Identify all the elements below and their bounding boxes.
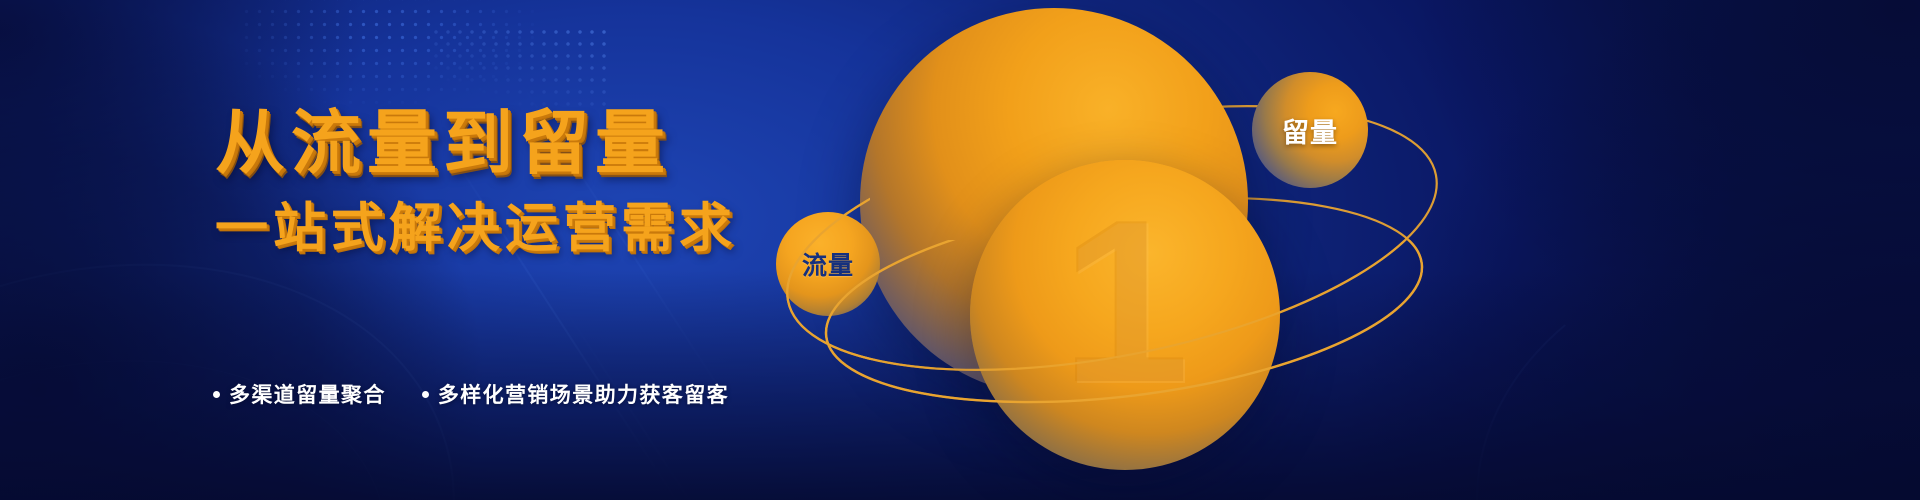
promo-banner: 从流量到留量 一站式解决运营需求 多渠道留量聚合 多样化营销场景助力获客留客 1… bbox=[0, 0, 1920, 500]
feature-bullet-list: 多渠道留量聚合 多样化营销场景助力获客留客 bbox=[213, 379, 729, 409]
bullet-label: 多样化营销场景助力获客留客 bbox=[438, 379, 729, 409]
bullet-dot-icon bbox=[213, 391, 220, 398]
orbit-rings-front bbox=[720, 0, 1920, 500]
bullet-dot-icon bbox=[422, 391, 429, 398]
list-item: 多样化营销场景助力获客留客 bbox=[422, 379, 729, 409]
list-item: 多渠道留量聚合 bbox=[213, 379, 386, 409]
bullet-label: 多渠道留量聚合 bbox=[229, 379, 386, 409]
hero-illustration: 1 流量 留量 bbox=[720, 0, 1920, 500]
